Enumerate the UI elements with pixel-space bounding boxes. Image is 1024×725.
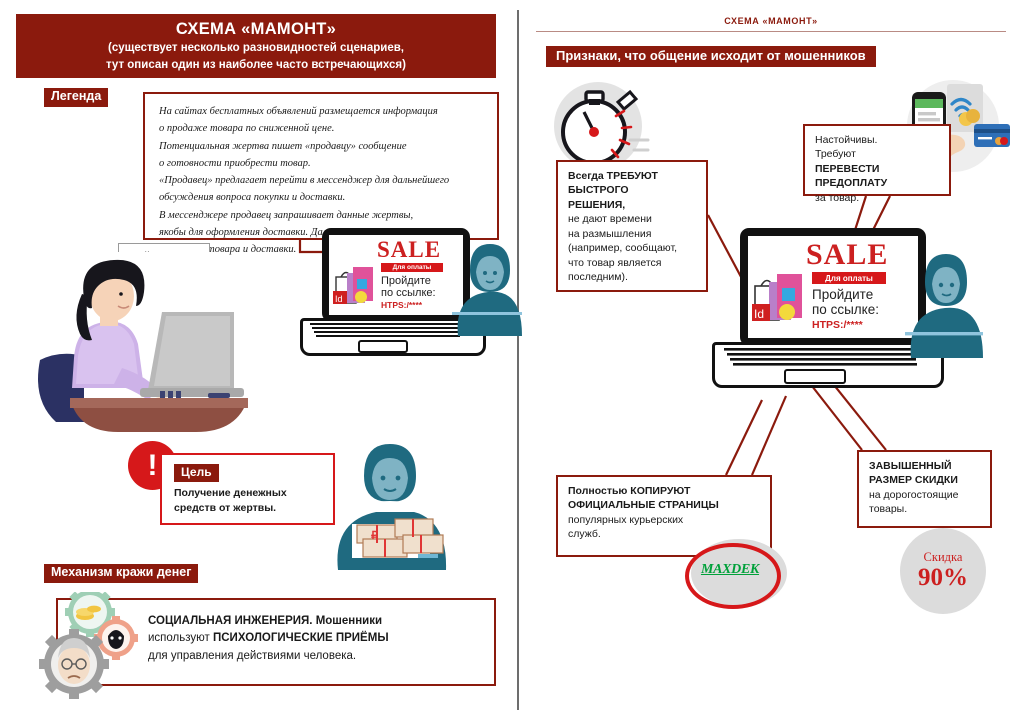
title-sub-line-1: (существует несколько разновидностей сце… (108, 42, 404, 56)
laptop-keyboard-left (308, 322, 472, 338)
svg-text:Id: Id (754, 307, 764, 321)
legend-line: обсуждения вопроса покупки и доставки. (159, 190, 485, 206)
laptop-link-left: HTPS:/**** (381, 300, 422, 310)
callout-line: последним). (568, 270, 697, 284)
panel-divider (517, 10, 519, 710)
goal-line-1: Получение денежных (174, 486, 323, 501)
money-stacks-icon: ₽ (355, 505, 451, 561)
laptop-line-1-left: Пройдите (381, 275, 431, 287)
callout-line: ЗАВЫШЕННЫЙ (869, 459, 981, 473)
callout-fast-decision: Всегда ТРЕБУЮТ БЫСТРОГО РЕШЕНИЯ, не дают… (556, 160, 708, 292)
gears-illustration (30, 592, 162, 704)
shopping-bags-icon: Id (752, 262, 810, 334)
laptop-link-right: HTPS:/**** (812, 319, 863, 331)
legend-line: Потенциальная жертва пишет «продавцу» со… (159, 139, 485, 155)
mechanism-line-1-strong: СОЦИАЛЬНАЯ ИНЖЕНЕРИЯ. (148, 615, 313, 627)
callout-line: Всегда ТРЕБУЮТ (568, 169, 697, 183)
infographic-page: СХЕМА «МАМОНТ» (существует несколько раз… (0, 0, 1024, 725)
goal-line-2: средств от жертвы. (174, 501, 323, 516)
legend-line: «Продавец» предлагает перейти в мессендж… (159, 173, 485, 189)
legend-tag: Легенда (44, 88, 108, 107)
logo-text: MAXDEK (694, 562, 766, 578)
discount-badge: Скидка 90% (900, 528, 986, 614)
pay-chip-left: Для оплаты (381, 263, 443, 272)
sale-text-right: SALE (806, 238, 888, 272)
callout-line: (например, сообщают, (568, 241, 697, 255)
legend-line: На сайтах бесплатных объявлений размещае… (159, 104, 485, 120)
legend-line: В мессенджере продавец запрашивает данны… (159, 208, 485, 224)
callout-line: РАЗМЕР СКИДКИ (869, 473, 981, 487)
callout-line: за товар. (815, 191, 940, 205)
callout-line: Требуют (815, 147, 940, 161)
callout-line: не дают времени (568, 212, 697, 226)
mechanism-text: СОЦИАЛЬНАЯ ИНЖЕНЕРИЯ. Мошенники использу… (148, 613, 478, 665)
goal-tag: Цель (174, 464, 219, 482)
callout-line: БЫСТРОГО (568, 183, 697, 197)
mechanism-line-2-strong: ПСИХОЛОГИЧЕСКИЕ ПРИЁМЫ (213, 632, 389, 644)
legend-line: о готовности приобрести товар. (159, 156, 485, 172)
legend-text-box: На сайтах бесплатных объявлений размещае… (143, 92, 499, 240)
laptop-line-2-right: по ссылке: (812, 302, 879, 317)
header-rule (536, 31, 1006, 32)
callout-line: на дорогостоящие (869, 488, 981, 502)
sale-text-left: SALE (377, 237, 441, 263)
pay-chip-right: Для оплаты (812, 272, 886, 284)
mechanism-line-1-rest: Мошенники (313, 615, 383, 627)
callout-line: РЕШЕНИЯ, (568, 198, 697, 212)
title-sub-line-2: тут описан один из наиболее часто встреч… (106, 59, 406, 73)
laptop-line-2-left: по ссылке: (381, 287, 436, 299)
callout-inflated-discount: ЗАВЫШЕННЫЙ РАЗМЕР СКИДКИ на дорогостоящи… (857, 450, 992, 528)
callout-prepayment: Настойчивы. Требуют ПЕРЕВЕСТИ ПРЕДОПЛАТУ… (803, 124, 951, 196)
callout-line: на размышления (568, 227, 697, 241)
title-main: СХЕМА «МАМОНТ» (176, 20, 336, 39)
callout-line: ПРЕДОПЛАТУ (815, 176, 940, 190)
svg-text:Id: Id (335, 294, 343, 304)
scammer-illustration-right (905, 250, 983, 358)
discount-label: Скидка (924, 550, 963, 565)
callout-line: что товар является (568, 256, 697, 270)
callout-line: Полностью КОПИРУЮТ (568, 484, 761, 498)
scammer-illustration-left (452, 240, 522, 336)
callout-line: товары. (869, 502, 981, 516)
callout-line: популярных курьерских (568, 513, 761, 527)
shopping-bags-icon: Id (333, 257, 379, 313)
signs-section-tag: Признаки, что общение исходит от мошенни… (546, 46, 876, 67)
gear-person-icon (39, 629, 109, 699)
svg-text:₽: ₽ (371, 530, 378, 542)
page-title: СХЕМА «МАМОНТ» (существует несколько раз… (16, 14, 496, 78)
discount-percent: 90% (918, 565, 968, 591)
mechanism-line-3: для управления действиями человека. (148, 648, 478, 665)
victim-illustration (22, 252, 272, 432)
laptop-line-1-right: Пройдите (812, 287, 873, 302)
goal-callout: Цель Получение денежных средств от жертв… (160, 453, 335, 525)
legend-line: о продаже товара по сниженной цене. (159, 121, 485, 137)
mechanism-tag: Механизм кражи денег (44, 564, 198, 583)
fake-courier-logo: MAXDEK (685, 535, 789, 609)
callout-line: Настойчивы. (815, 133, 940, 147)
running-header: СХЕМА «МАМОНТ» (536, 16, 1006, 26)
callout-line: ОФИЦИАЛЬНЫЕ СТРАНИЦЫ (568, 498, 761, 512)
callout-line: ПЕРЕВЕСТИ (815, 162, 940, 176)
laptop-keyboard-right (722, 347, 928, 367)
